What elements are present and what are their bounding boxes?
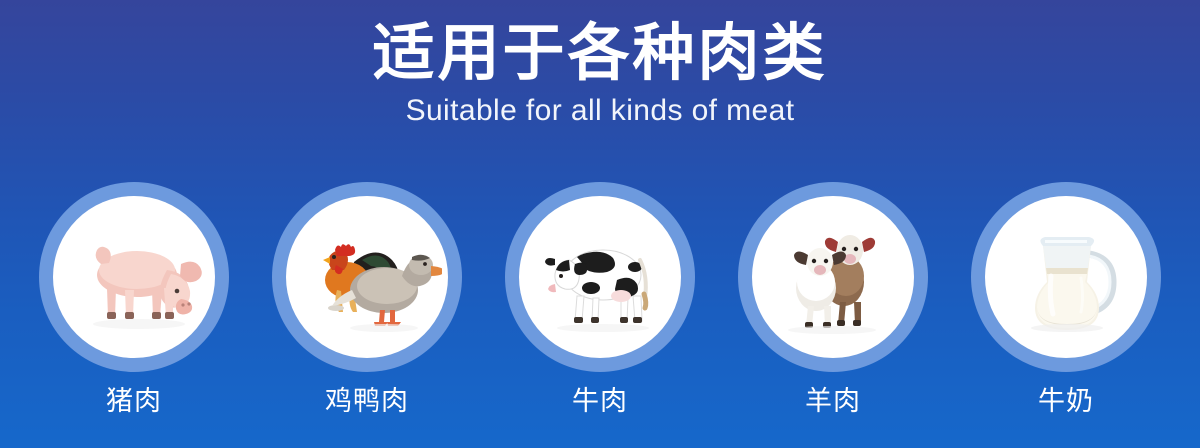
list-item-label: 牛奶	[1038, 386, 1094, 418]
lambs-photo	[752, 196, 914, 358]
list-item[interactable]: 鸡鸭肉	[272, 182, 462, 418]
list-item-label: 牛肉	[572, 386, 628, 418]
category-list: 猪肉	[0, 182, 1200, 418]
cow-photo	[519, 196, 681, 358]
list-item[interactable]: 猪肉	[39, 182, 229, 418]
category-circle-poultry[interactable]	[272, 182, 462, 372]
list-item[interactable]: 牛奶	[971, 182, 1161, 418]
pig-photo	[53, 196, 215, 358]
list-item[interactable]: 羊肉	[738, 182, 928, 418]
category-circle-mutton[interactable]	[738, 182, 928, 372]
list-item-label: 鸡鸭肉	[325, 386, 409, 418]
page-title: 适用于各种肉类	[0, 18, 1200, 87]
page-subtitle: Suitable for all kinds of meat	[0, 93, 1200, 129]
category-circle-milk[interactable]	[971, 182, 1161, 372]
rooster-duck-photo	[286, 196, 448, 358]
list-item[interactable]: 牛肉	[505, 182, 695, 418]
milk-jug-photo	[985, 196, 1147, 358]
banner-header: 适用于各种肉类 Suitable for all kinds of meat	[0, 18, 1200, 129]
category-circle-pork[interactable]	[39, 182, 229, 372]
promo-banner: 适用于各种肉类 Suitable for all kinds of meat	[0, 0, 1200, 448]
category-circle-beef[interactable]	[505, 182, 695, 372]
list-item-label: 猪肉	[106, 386, 162, 418]
list-item-label: 羊肉	[805, 386, 861, 418]
